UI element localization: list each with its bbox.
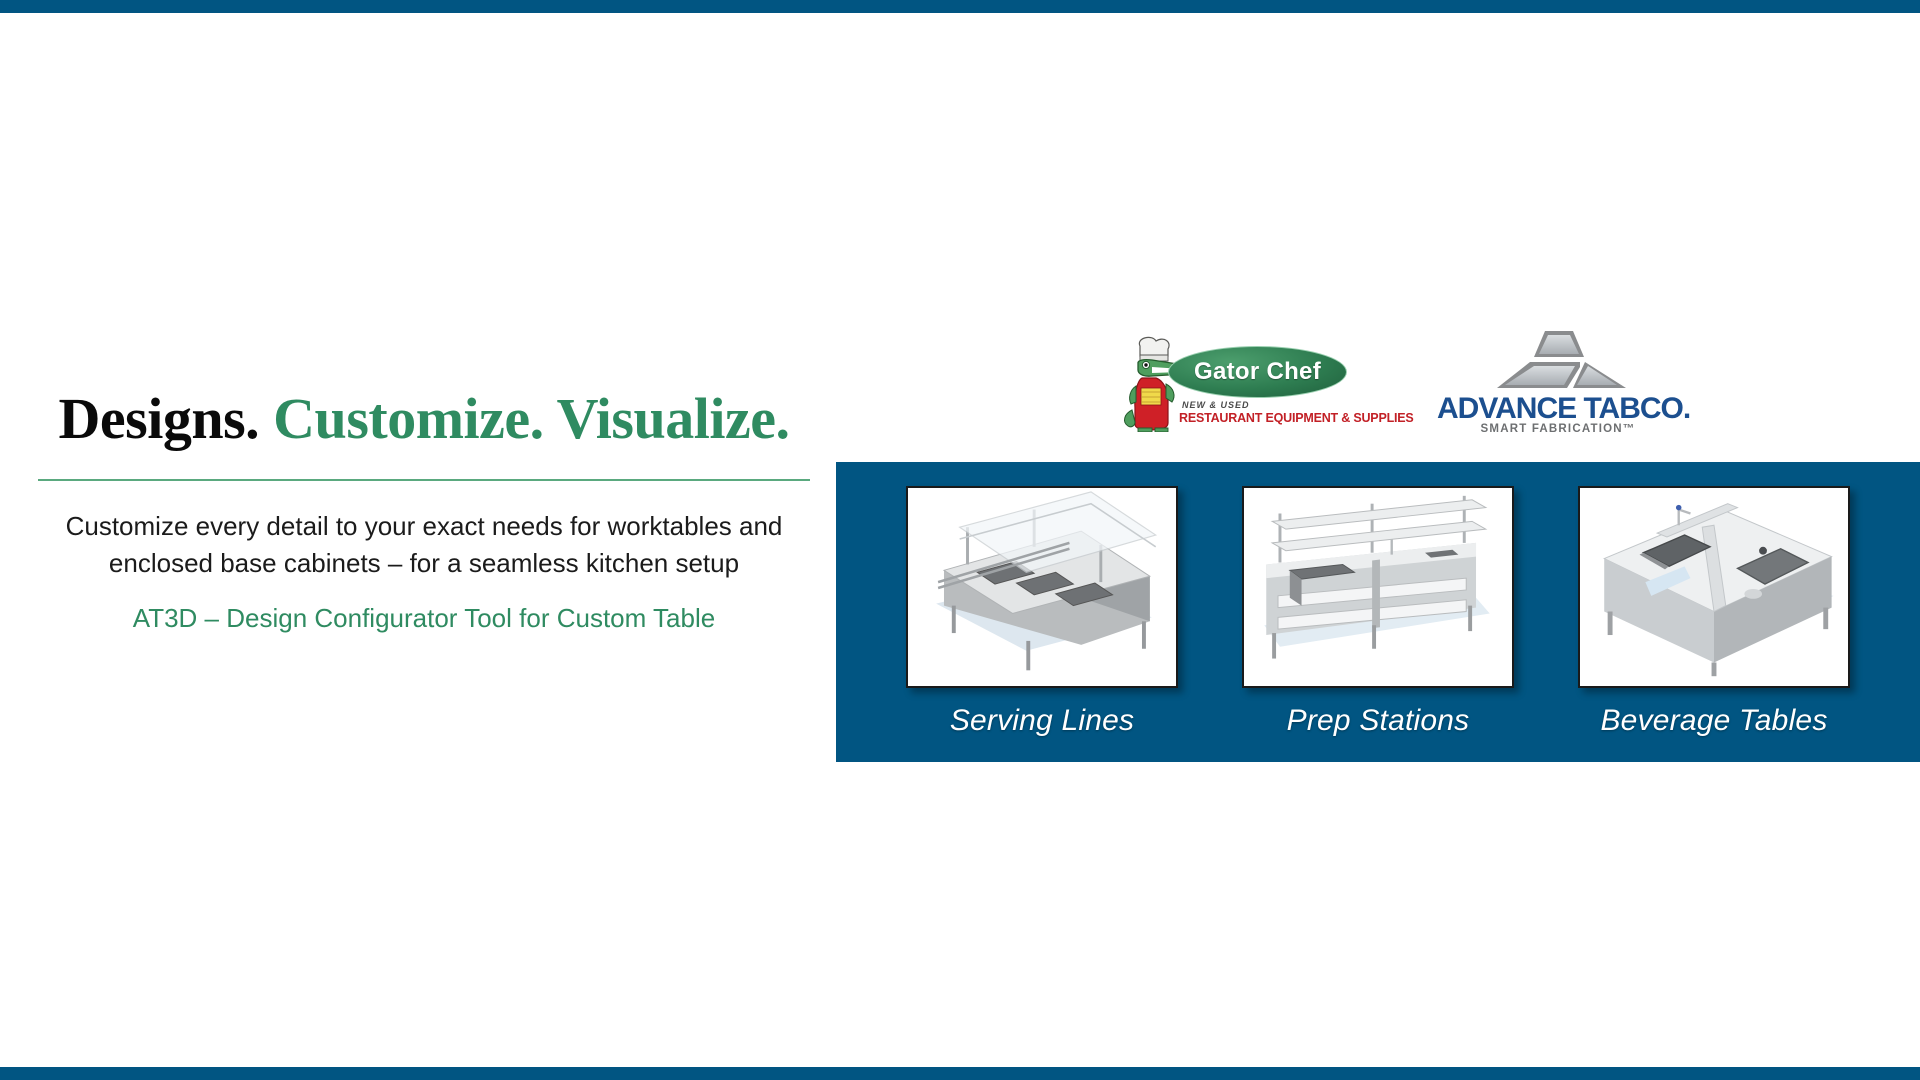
gator-chef-tagline-small: NEW & USED bbox=[1182, 400, 1350, 410]
prep-station-3d-render-icon bbox=[1244, 488, 1512, 686]
gator-chef-brand: Gator Chef bbox=[1169, 358, 1346, 386]
headline-word-visualize: Visualize. bbox=[557, 386, 790, 451]
advance-tabco-brand: ADVANCE TABCO. bbox=[1437, 392, 1679, 426]
logo-row: Gator Chef NEW & USED RESTAURANT EQUIPME… bbox=[836, 330, 1920, 445]
prep-stations-image-frame bbox=[1242, 486, 1514, 688]
headline-word-designs: Designs. bbox=[59, 386, 260, 451]
product-card-prep-stations[interactable]: Prep Stations bbox=[1242, 486, 1514, 738]
beverage-tables-image-frame bbox=[1578, 486, 1850, 688]
serving-line-3d-render-icon bbox=[908, 488, 1176, 686]
beverage-table-3d-render-icon bbox=[1580, 488, 1848, 686]
page-title: Designs. Customize. Visualize. bbox=[38, 385, 810, 453]
bottom-accent-bar bbox=[0, 1067, 1920, 1080]
serving-lines-image-frame bbox=[906, 486, 1178, 688]
product-card-serving-lines[interactable]: Serving Lines bbox=[906, 486, 1178, 738]
brand-logo-column: Gator Chef NEW & USED RESTAURANT EQUIPME… bbox=[836, 330, 1920, 445]
gator-chef-logo[interactable]: Gator Chef NEW & USED RESTAURANT EQUIPME… bbox=[1122, 336, 1347, 432]
advance-tabco-logo[interactable]: ADVANCE TABCO. SMART FABRICATION™ bbox=[1437, 330, 1679, 442]
top-accent-bar bbox=[0, 0, 1920, 13]
hero-divider bbox=[38, 479, 810, 481]
hero-text-column: Designs. Customize. Visualize. Customize… bbox=[38, 385, 810, 634]
gator-chef-oval: Gator Chef bbox=[1168, 346, 1347, 398]
product-card-list: Serving Lines bbox=[836, 462, 1920, 762]
prep-stations-label: Prep Stations bbox=[1242, 704, 1514, 738]
at3d-configurator-link[interactable]: AT3D – Design Configurator Tool for Cust… bbox=[38, 603, 810, 634]
gator-chef-tagline-large: RESTAURANT EQUIPMENT & SUPPLIES bbox=[1179, 411, 1357, 425]
product-card-beverage-tables[interactable]: Beverage Tables bbox=[1578, 486, 1850, 738]
advance-tabco-triangle-icon bbox=[1489, 330, 1629, 392]
beverage-tables-label: Beverage Tables bbox=[1578, 704, 1850, 738]
headline-word-customize: Customize. bbox=[273, 386, 543, 451]
advance-tabco-tagline: SMART FABRICATION™ bbox=[1437, 423, 1679, 435]
serving-lines-label: Serving Lines bbox=[906, 704, 1178, 738]
product-category-panel: Serving Lines bbox=[836, 462, 1920, 762]
hero-body-text: Customize every detail to your exact nee… bbox=[38, 508, 810, 582]
